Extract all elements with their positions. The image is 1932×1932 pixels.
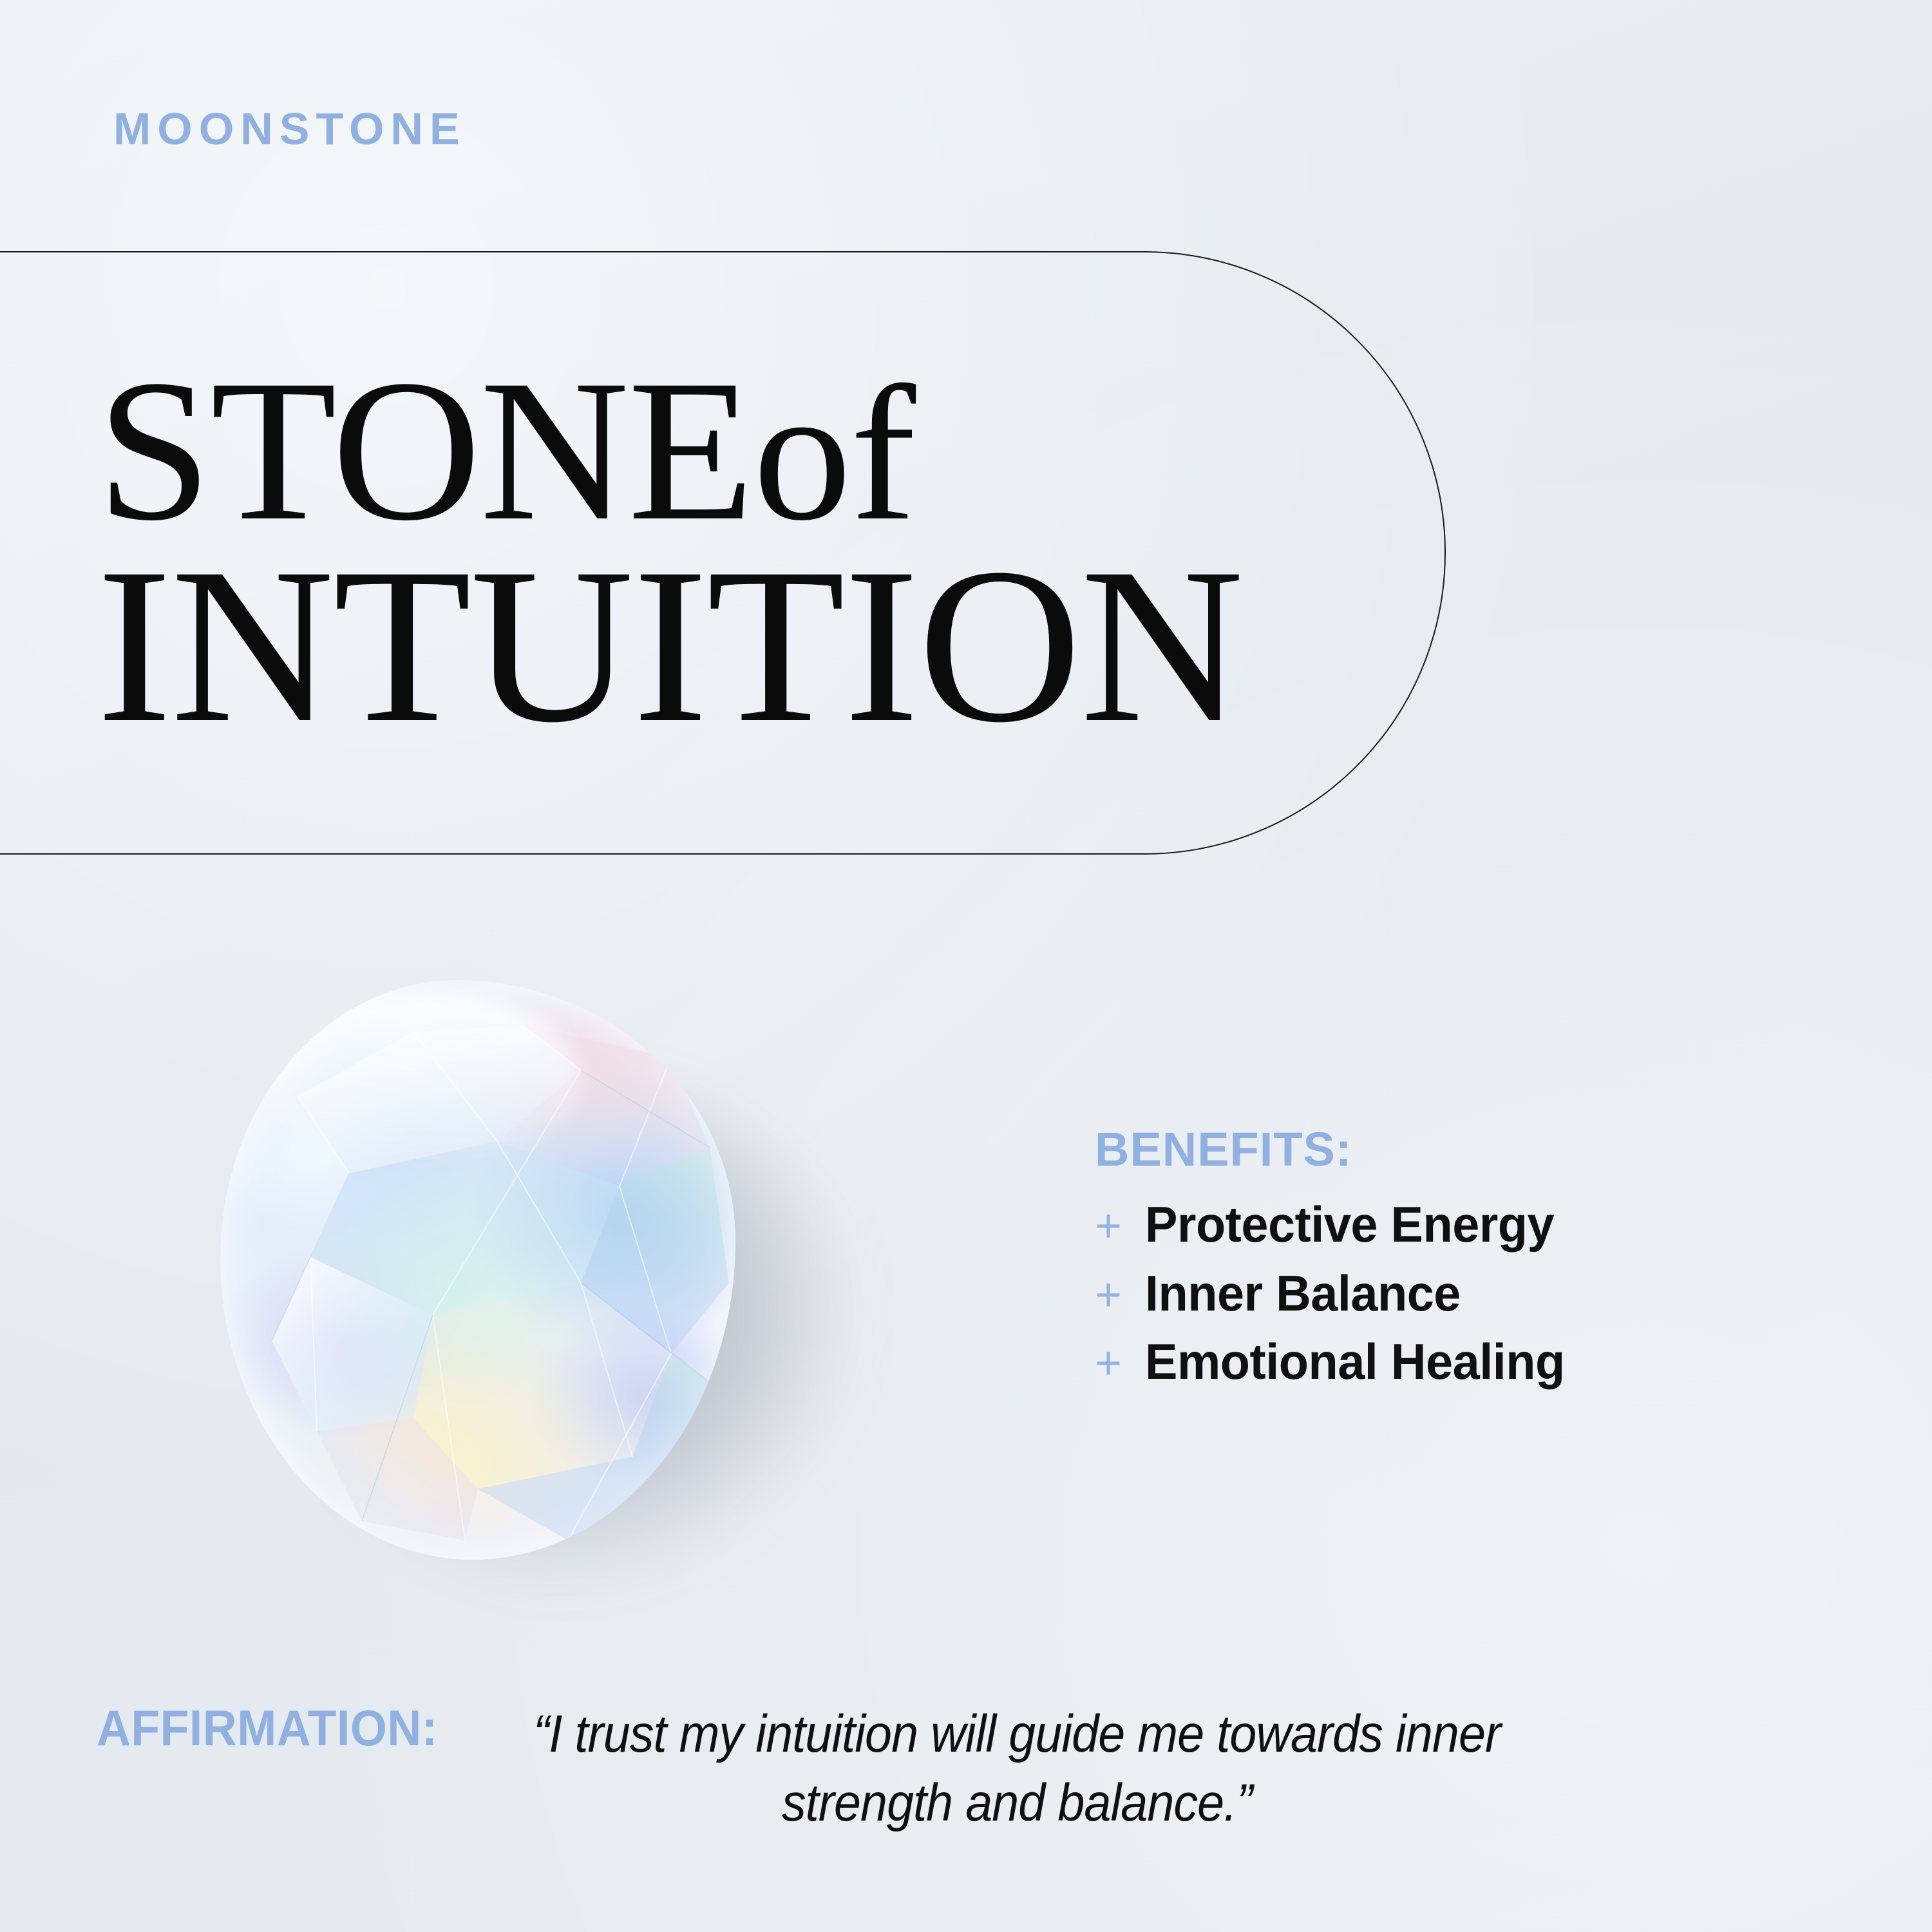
plus-icon: + <box>1095 1340 1128 1387</box>
benefit-label: Inner Balance <box>1145 1267 1461 1320</box>
affirmation-quote: “I trust my intuition will guide me towa… <box>463 1700 1571 1837</box>
benefit-label: Protective Energy <box>1145 1198 1554 1251</box>
affirmation-section: AFFIRMATION: “I trust my intuition will … <box>97 1700 1835 1837</box>
headline-line-2: INTUITION <box>97 539 1482 752</box>
moonstone-highlight <box>261 992 581 1166</box>
plus-icon: + <box>1095 1272 1128 1318</box>
plus-icon: + <box>1095 1203 1128 1249</box>
benefit-item-emotional-healing: + Emotional Healing <box>1095 1335 1771 1388</box>
benefits-section: BENEFITS: + Protective Energy + Inner Ba… <box>1095 1126 1771 1404</box>
headline-block: STONEof INTUITION <box>0 251 1455 855</box>
stone-category-label: MOONSTONE <box>113 106 466 151</box>
headline-line-1: STONEof <box>97 354 1482 548</box>
affirmation-label: AFFIRMATION: <box>97 1700 438 1756</box>
benefit-item-inner-balance: + Inner Balance <box>1095 1267 1771 1320</box>
benefits-heading: BENEFITS: <box>1095 1126 1771 1173</box>
benefit-label: Emotional Healing <box>1145 1335 1565 1388</box>
moonstone-crystal-icon <box>220 980 735 1560</box>
benefit-item-protective-energy: + Protective Energy <box>1095 1198 1771 1251</box>
moonstone-image-area <box>193 947 876 1597</box>
